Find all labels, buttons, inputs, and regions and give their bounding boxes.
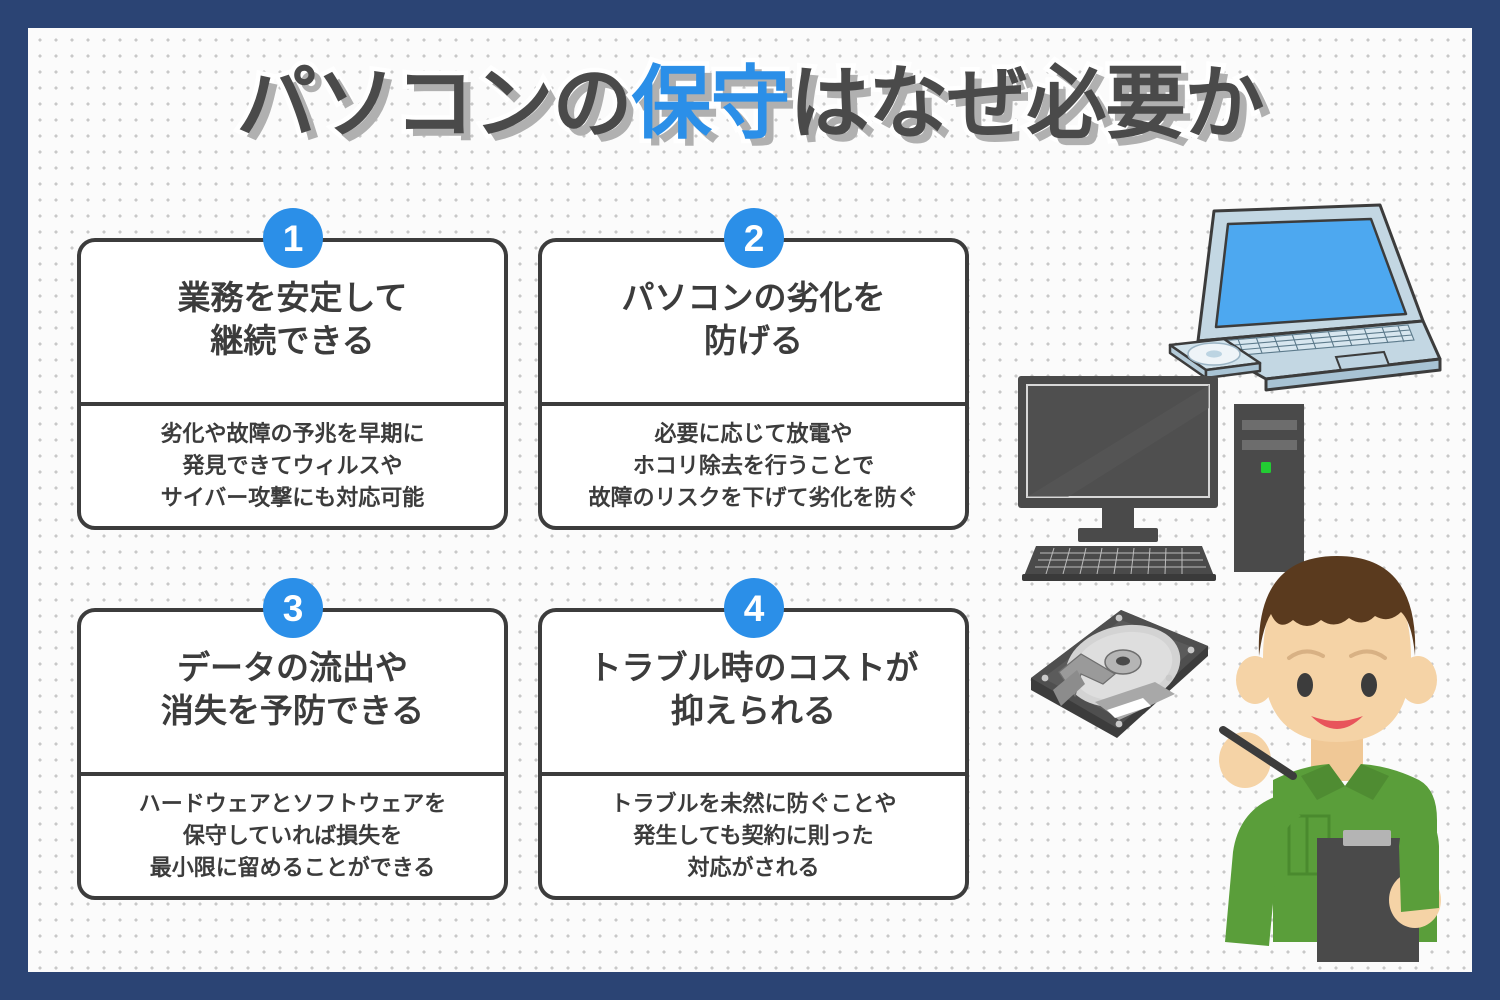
eye-left: [1297, 673, 1313, 697]
card-number-badge-3: 3: [263, 578, 323, 638]
card-body-2: 必要に応じて放電や ホコリ除去を行うことで 故障のリスクを下げて劣化を防ぐ: [542, 406, 965, 526]
card-title-2: パソコンの劣化を 防げる: [622, 277, 886, 363]
laptop-illustration: [1168, 193, 1458, 393]
card-title-1: 業務を安定して 継続できる: [177, 277, 407, 363]
page-title: パソコンの保守はなぜ必要か: [28, 64, 1472, 144]
card-body-3: ハードウェアとソフトウェアを 保守していれば損失を 最小限に留めることができる: [81, 776, 504, 896]
title-part-1: パソコンの: [237, 59, 632, 148]
title-highlight: 保守: [632, 59, 790, 148]
reason-card-2: パソコンの劣化を 防げる 必要に応じて放電や ホコリ除去を行うことで 故障のリス…: [538, 238, 969, 530]
card-title-4: トラブル時のコストが 抑えられる: [589, 647, 919, 733]
outer-frame: パソコンの保守はなぜ必要か 1 業務を安定して 継続できる 劣化や故障の予兆を早…: [0, 0, 1500, 1000]
technician-illustration: [1193, 548, 1472, 972]
card-title-3: データの流出や 消失を予防できる: [161, 647, 424, 733]
card-description-2: 必要に応じて放電や ホコリ除去を行うことで 故障のリスクを下げて劣化を防ぐ: [588, 418, 918, 514]
card-description-1: 劣化や故障の予兆を早期に 発見できてウィルスや サイバー攻撃にも対応可能: [160, 418, 424, 514]
title-part-2: はなぜ必要か: [790, 59, 1264, 148]
title-text: パソコンの保守はなぜ必要か: [237, 64, 1264, 144]
card-body-4: トラブルを未然に防ぐことや 発生しても契約に則った 対応がされる: [542, 776, 965, 896]
infographic-canvas: パソコンの保守はなぜ必要か 1 業務を安定して 継続できる 劣化や故障の予兆を早…: [28, 28, 1472, 972]
card-description-4: トラブルを未然に防ぐことや 発生しても契約に則った 対応がされる: [610, 788, 896, 884]
card-number-badge-1: 1: [263, 208, 323, 268]
card-number-badge-4: 4: [724, 578, 784, 638]
reason-card-3: データの流出や 消失を予防できる ハードウェアとソフトウェアを 保守していれば損…: [77, 608, 508, 900]
card-body-1: 劣化や故障の予兆を早期に 発見できてウィルスや サイバー攻撃にも対応可能: [81, 406, 504, 526]
eye-right: [1361, 673, 1377, 697]
reason-card-4: トラブル時のコストが 抑えられる トラブルを未然に防ぐことや 発生しても契約に則…: [538, 608, 969, 900]
hard-disk-illustration: [1023, 598, 1213, 758]
power-led-icon: [1261, 462, 1271, 473]
reason-card-1: 業務を安定して 継続できる 劣化や故障の予兆を早期に 発見できてウィルスや サイ…: [77, 238, 508, 530]
card-number-badge-2: 2: [724, 208, 784, 268]
card-description-3: ハードウェアとソフトウェアを 保守していれば損失を 最小限に留めることができる: [139, 788, 447, 884]
